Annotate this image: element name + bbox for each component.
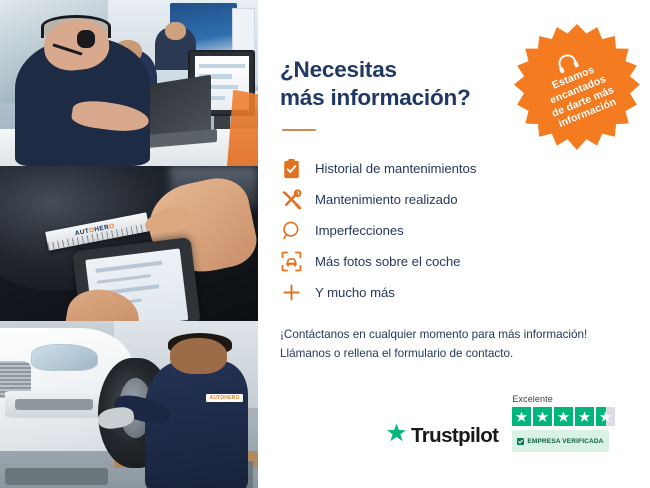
page-title: ¿Necesitas más información? xyxy=(280,56,510,113)
photo-column: AUTOHERO xyxy=(0,0,258,488)
list-item-label: Más fotos sobre el coche xyxy=(315,254,460,270)
verified-label: EMPRESA VERIFICADA xyxy=(527,438,603,445)
star-filled xyxy=(512,407,531,426)
inspection-ruler-tablet-photo: AUTOHERO xyxy=(0,166,258,321)
headline-line-2: más información? xyxy=(280,84,510,112)
trustpilot-star-icon xyxy=(386,423,407,448)
list-item: Más fotos sobre el coche xyxy=(280,246,624,277)
list-item: Imperfecciones xyxy=(280,215,624,246)
tools-icon xyxy=(280,189,302,211)
verified-check-icon xyxy=(517,432,524,450)
autohero-shirt-logo: AUTOHERO xyxy=(206,394,242,402)
list-item: Mantenimiento realizado xyxy=(280,184,624,215)
call-center-agent-headset-photo xyxy=(0,0,258,166)
clipboard-check-icon xyxy=(280,158,302,180)
trustpilot-rating: Excelente xyxy=(512,394,615,452)
status-badge: EMPRESA VERIFICADA xyxy=(512,430,608,452)
feature-list: Historial de mantenimientos Mantenimient… xyxy=(280,153,624,308)
information-banner: AUTOHERO xyxy=(0,0,650,488)
star-filled xyxy=(533,407,552,426)
star-filled xyxy=(554,407,573,426)
trustpilot-widget[interactable]: Trustpilot Excelente xyxy=(386,394,615,452)
car-photo-frame-icon xyxy=(280,251,302,273)
contact-line-2: Llámanos o rellena el formulario de cont… xyxy=(280,345,624,364)
content-panel: ¿Necesitas más información? Estamos enca… xyxy=(258,0,650,488)
star-half xyxy=(596,407,615,426)
list-item-label: Y mucho más xyxy=(315,285,395,301)
headline-line-1: ¿Necesitas xyxy=(280,57,397,82)
magnifier-icon xyxy=(280,220,302,242)
list-item: Y mucho más xyxy=(280,277,624,308)
list-item-label: Imperfecciones xyxy=(315,223,404,239)
plus-icon xyxy=(280,282,302,304)
trustpilot-logo[interactable]: Trustpilot xyxy=(386,423,498,452)
starburst-badge: Estamos encantados de darte más informac… xyxy=(514,24,640,150)
trustpilot-wordmark: Trustpilot xyxy=(411,424,498,448)
title-divider xyxy=(282,129,316,132)
list-item-label: Historial de mantenimientos xyxy=(315,161,476,177)
mechanic-wheel-inspection-photo: AUTOHERO xyxy=(0,321,258,488)
star-rating xyxy=(512,407,615,426)
list-item: Historial de mantenimientos xyxy=(280,153,624,184)
rating-label: Excelente xyxy=(512,394,615,404)
list-item-label: Mantenimiento realizado xyxy=(315,192,458,208)
contact-line-1: ¡Contáctanos en cualquier momento para m… xyxy=(280,326,624,345)
star-filled xyxy=(575,407,594,426)
contact-text: ¡Contáctanos en cualquier momento para m… xyxy=(280,326,624,364)
